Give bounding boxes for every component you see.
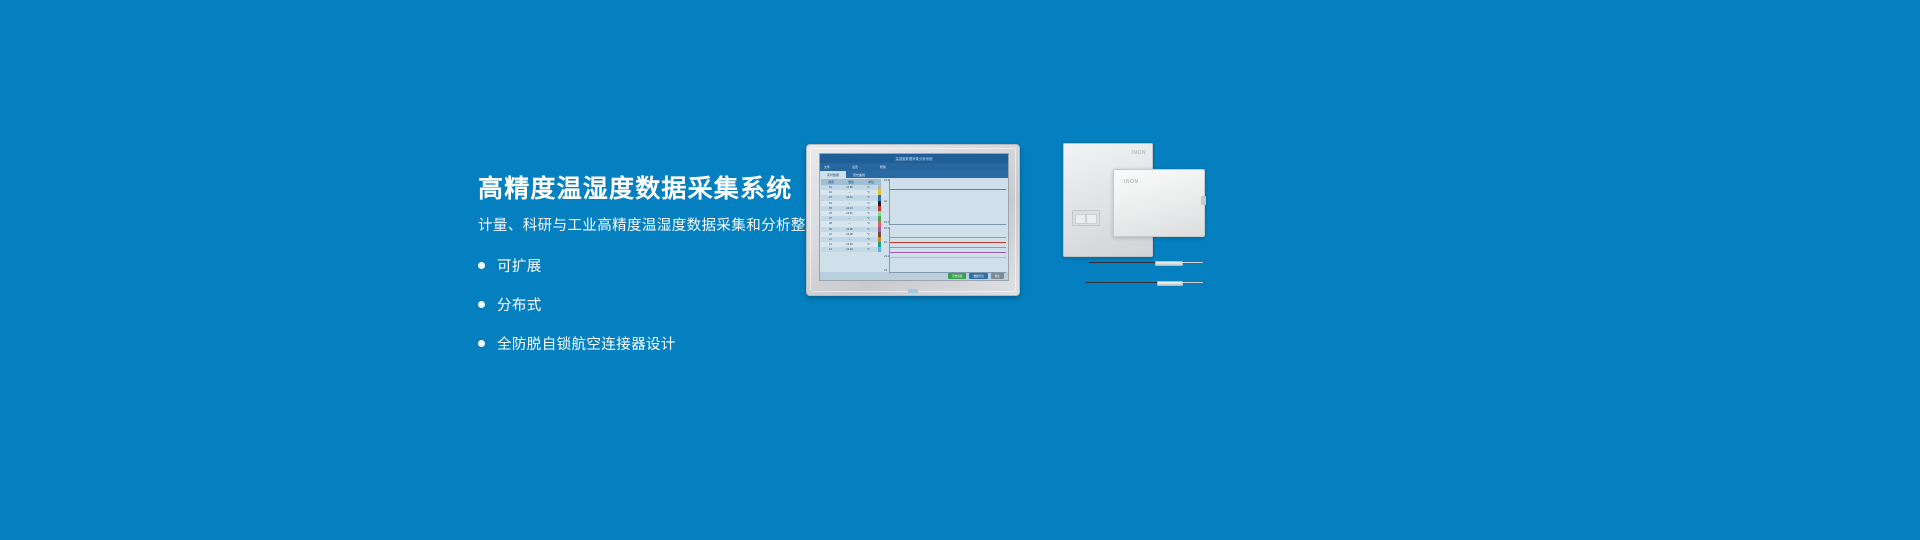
list-item: 分布式 (478, 294, 948, 315)
menu-item-help: 帮助 (880, 165, 886, 169)
chart-series-line (890, 247, 1006, 248)
cell-channel: 08 (821, 222, 840, 225)
y-axis-tick-label: 23.7 (884, 221, 889, 224)
cell-unit: ℃ (859, 202, 878, 205)
monitor-stand-foot (908, 289, 918, 293)
probe-lower (1085, 281, 1203, 284)
cell-channel: 10 (821, 233, 840, 236)
start-capture-button: 开始采集 (948, 273, 966, 279)
monitor-screen: 温湿度数据采集分析系统 文件 设置 帮助 实时数据 历史曲线 通道 数值 单位 … (819, 153, 1009, 281)
cell-channel: 04 (821, 202, 840, 205)
cell-channel: 07 (821, 217, 840, 220)
software-body: 通道 数值 单位 0121.85℃02--℃0324.11℃04--℃0524.… (820, 178, 1008, 272)
cell-channel: 13 (821, 248, 840, 251)
col-value: 数值 (841, 180, 861, 184)
feature-label: 全防脱自锁航空连接器设计 (497, 333, 676, 354)
cell-unit: ℃ (859, 248, 878, 251)
brand-logo: INON (1132, 150, 1147, 156)
software-statusbar: 就绪 通道数:16 (820, 280, 1008, 281)
cell-value: -- (840, 217, 859, 220)
software-tabbar: 实时数据 历史曲线 (820, 171, 1008, 178)
software-window-title: 温湿度数据采集分析系统 (820, 154, 1008, 163)
cell-value: 24.13 (840, 207, 859, 210)
probe-upper (1089, 261, 1203, 264)
bullet-dot-icon (478, 301, 485, 308)
y-axis-tick-label: 24.3 (884, 179, 889, 182)
cell-unit: ℃ (859, 243, 878, 246)
chart-series-line (890, 257, 1006, 258)
cell-unit: ℃ (859, 191, 878, 194)
cell-value: 24.08 (840, 233, 859, 236)
product-panel-pc: 温湿度数据采集分析系统 文件 设置 帮助 实时数据 历史曲线 通道 数值 单位 … (806, 144, 1020, 296)
chart-area: 24.32423.7 24.12423.123 (881, 178, 1008, 272)
cell-unit: ℃ (859, 222, 878, 225)
chart-series-line (890, 252, 1006, 253)
bullet-dot-icon (478, 340, 485, 347)
software-buttonbar: 开始采集 数据导出 停止 (820, 272, 1008, 280)
chart-series-line (890, 242, 1006, 243)
probe-cable (1089, 262, 1155, 263)
cell-value: -- (840, 202, 859, 205)
tab-history: 历史曲线 (846, 171, 872, 178)
feature-label: 分布式 (497, 294, 542, 315)
cell-unit: ℃ (859, 228, 878, 231)
chart-top: 24.32423.7 (889, 179, 1006, 225)
menu-item-settings: 设置 (852, 165, 858, 169)
y-axis-tick-label: 24.1 (884, 227, 889, 230)
cell-value: 23.90 (840, 243, 859, 246)
cell-unit: ℃ (859, 233, 878, 236)
feature-label: 可扩展 (497, 255, 542, 276)
cell-unit: ℃ (859, 212, 878, 215)
cell-value: 24.02 (840, 248, 859, 251)
channel-table: 通道 数值 单位 0121.85℃02--℃0324.11℃04--℃0524.… (820, 178, 881, 272)
cell-unit: ℃ (859, 217, 878, 220)
cell-channel: 12 (821, 243, 840, 246)
cell-value: -- (840, 191, 859, 194)
chart-bottom: 24.12423.123 (889, 227, 1006, 273)
cell-channel: 05 (821, 207, 840, 210)
aviation-connector-icon (1201, 196, 1206, 205)
cell-unit: ℃ (859, 207, 878, 210)
export-data-button: 数据导出 (969, 273, 987, 279)
stop-button: 停止 (991, 273, 1004, 279)
connector-block-icon (1072, 210, 1100, 226)
cell-unit: ℃ (859, 186, 878, 189)
col-unit: 单位 (861, 180, 881, 184)
cell-channel: 01 (821, 186, 840, 189)
cell-value: -- (840, 238, 859, 241)
cell-unit: ℃ (859, 238, 878, 241)
bullet-dot-icon (478, 262, 485, 269)
y-axis-tick-label: 23.1 (884, 255, 889, 258)
product-hardware-group: INON INON (1063, 143, 1203, 295)
table-row: 1324.02℃ (821, 247, 881, 252)
probe-cable (1085, 282, 1157, 283)
cell-value: 24.06 (840, 228, 859, 231)
cell-channel: 11 (821, 238, 840, 241)
probe-body (1157, 281, 1183, 286)
y-axis-tick-label: 24 (884, 241, 887, 244)
brand-logo: INON (1124, 179, 1139, 185)
probe-tip (1181, 262, 1203, 263)
chart-series-line (890, 189, 1006, 190)
expansion-module: INON (1113, 169, 1205, 237)
probe-body (1155, 261, 1183, 266)
col-channel: 通道 (821, 180, 841, 184)
cell-value: 23.61 (840, 212, 859, 215)
cell-value: 21.85 (840, 186, 859, 189)
tab-realtime: 实时数据 (820, 171, 846, 178)
chart-series-line (890, 237, 1006, 238)
cell-value: 24.11 (840, 196, 859, 199)
y-axis-tick-label: 24 (884, 200, 887, 203)
y-axis-tick-label: 23 (884, 269, 887, 272)
cell-channel: 02 (821, 191, 840, 194)
cell-channel: 09 (821, 228, 840, 231)
list-item: 全防脱自锁航空连接器设计 (478, 333, 948, 354)
cell-value: -- (840, 222, 859, 225)
cell-unit: ℃ (859, 196, 878, 199)
menu-item-file: 文件 (824, 165, 830, 169)
probe-tip (1181, 282, 1203, 283)
cell-channel: 03 (821, 196, 840, 199)
cell-channel: 06 (821, 212, 840, 215)
promo-banner: 高精度温湿度数据采集系统 计量、科研与工业高精度温湿度数据采集和分析整体解决方案… (0, 0, 1920, 540)
software-menubar: 文件 设置 帮助 (820, 163, 1008, 171)
